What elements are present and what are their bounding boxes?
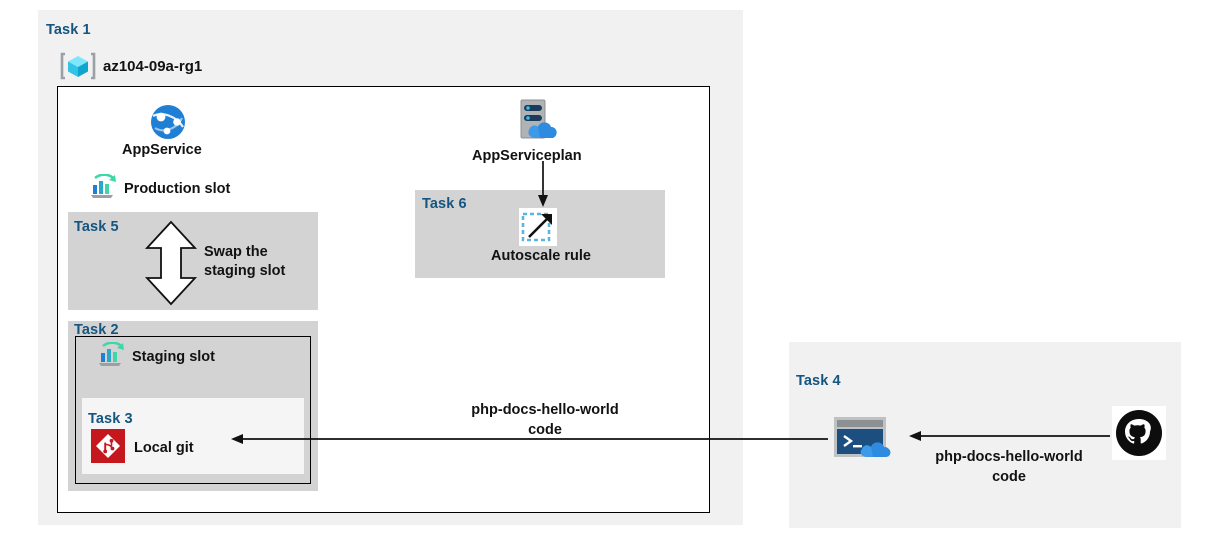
production-slot-label: Production slot [124,181,230,197]
mid-label-line-1: php-docs-hello-world [471,402,618,418]
app-service-label: AppService [122,142,202,158]
right-label-line-1: php-docs-hello-world [935,449,1082,465]
github-icon [1112,406,1166,460]
task-4-label: Task 4 [796,373,841,389]
staging-slot-label: Staging slot [132,349,215,365]
shell-to-local-git-connector-label: php-docs-hello-world code [447,401,643,440]
task-3-label: Task 3 [88,411,133,427]
double-arrow-vertical-icon [143,220,199,306]
task-5-label: Task 5 [74,219,119,235]
resource-group-icon [60,48,96,84]
git-icon [91,429,125,463]
github-to-shell-connector-label: php-docs-hello-world code [911,448,1107,487]
deployment-slot-icon [97,342,127,368]
autoscale-rule-label: Autoscale rule [491,248,591,264]
task-1-label: Task 1 [46,22,91,38]
cloud-shell-icon [833,416,901,458]
right-label-line-2: code [992,469,1026,485]
swap-staging-slot-label: Swap the staging slot [204,243,314,281]
local-git-label: Local git [134,440,194,456]
autoscale-icon [519,208,557,246]
mid-label-line-2: code [528,422,562,438]
task-6-label: Task 6 [422,196,467,212]
swap-label-line-2: staging slot [204,263,285,279]
task-2-label: Task 2 [74,322,119,338]
app-service-icon [149,103,187,141]
diagram-canvas: Task 1 Task 5 Task 2 Task 3 Task 6 Task … [0,0,1218,545]
app-service-plan-label: AppServiceplan [472,148,582,164]
swap-label-line-1: Swap the [204,244,268,260]
app-service-plan-icon [510,97,562,145]
resource-group-label: az104-09a-rg1 [103,58,202,75]
deployment-slot-icon [89,174,119,200]
